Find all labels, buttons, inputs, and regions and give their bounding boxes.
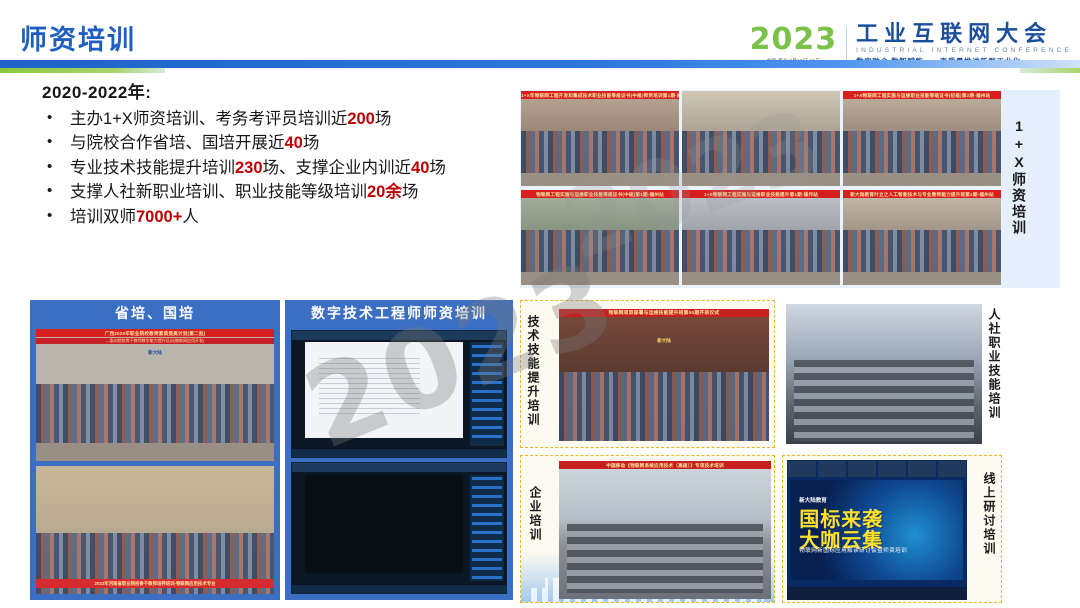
conference-year-block: 2023 中国·苏州 8月12日-15日 (750, 25, 847, 64)
screenshot-text-lines (319, 358, 420, 417)
panel-digital-engineer-title: 数字技术工程师师资培训 (285, 300, 513, 326)
achievement-item: 与院校合作省培、国培开展近40场 (42, 132, 512, 155)
photo-online-seminar: 新大陆教育 国标来袭 大咖云集 物联网新国标应用解读研讨会暨师资培训 (787, 460, 967, 600)
conference-name-cn: 工业互联网大会 (856, 22, 1072, 45)
webinar-footer-bar (787, 587, 967, 600)
bullet-text: 人 (182, 208, 199, 226)
photo-grid-cell: 新大陆教育叶立之人工智能技术与专业教师能力提升班第2期-福州站 (843, 190, 1001, 285)
highlight-number: 40 (411, 159, 429, 177)
photo-skill-upgrade: 物联网项目部署与运维技能提升班第50期开班仪式 新大陆 (559, 309, 769, 441)
webinar-thumb (908, 461, 936, 477)
photo-subbanner-provincial-top: —面向院校骨干教师教学能力提升培训(物联网应用开发) (36, 338, 274, 344)
screenshot-meeting-2 (291, 462, 507, 594)
photo-desks (794, 360, 974, 441)
bullet-text: 场 (375, 110, 392, 128)
photo-floor (521, 173, 679, 186)
panel-online-seminar: 新大陆教育 国标来袭 大咖云集 物联网新国标应用解读研讨会暨师资培训 线上研讨培… (782, 455, 1002, 603)
webinar-participant-thumbnails (787, 460, 967, 478)
achievement-item: 专业技术技能提升培训230场、支撑企业内训近40场 (42, 157, 512, 180)
webinar-title-line1: 国标来袭 (799, 510, 906, 531)
highlight-number: 200 (347, 110, 375, 128)
organization-logo-icon: 新大陆 (148, 350, 162, 356)
bullet-text: 场、支撑企业内训近 (263, 159, 412, 177)
photo-floor (521, 272, 679, 285)
conference-year: 2023 (750, 25, 838, 55)
webinar-thumb (878, 461, 906, 477)
bullet-text: 支撑人社新职业培训、职业技能等级培训 (70, 183, 367, 201)
screenshot-toolbar (292, 331, 506, 340)
photo-enterprise: 中国移动《物联网系统应用技术（高级）》专项技术培训 (559, 461, 771, 599)
webinar-thumb (848, 461, 876, 477)
photo-provincial-bottom: 2022年河南省职业院校骨干教师培养培训-物联网应用技术专业 (36, 466, 274, 594)
header-divider (0, 60, 1080, 74)
bullet-text: 场 (402, 183, 419, 201)
photo-provincial-top: 广西2020年职业院校教师素质提高计划(第二批) —面向院校骨干教师教学能力提升… (36, 329, 274, 461)
screenshot-document (305, 475, 463, 574)
label-hr-vocational-training: 人社职业技能培训 (988, 308, 1000, 438)
highlight-number: 7000+ (136, 208, 182, 226)
bullet-text: 与院校合作省培、国培开展近 (70, 134, 285, 152)
photo-floor (682, 173, 840, 186)
photo-floor (682, 272, 840, 285)
panel-hr-vocational: 人社职业技能培训 (782, 300, 1002, 448)
webinar-slide-body: 新大陆教育 国标来袭 大咖云集 物联网新国标应用解读研讨会暨师资培训 (791, 480, 964, 581)
photo-banner-skill-upgrade: 物联网项目部署与运维技能提升班第50期开班仪式 (559, 309, 769, 317)
photo-banner-provincial-bottom: 2022年河南省职业院校骨干教师培养培训-物联网应用技术专业 (36, 579, 274, 588)
bullet-text: 专业技术技能提升培训 (70, 159, 235, 177)
photo-banner: 物联网工程实施与运维职业技能等级证书(中级)第1期-福州站 (521, 190, 679, 198)
divider-blue-bar (0, 60, 1080, 68)
highlight-number: 230 (235, 159, 263, 177)
photo-grid-cell: 1+X物联网工程实施与运维职业技能等级证书(初级)第2期-福州站 (843, 91, 1001, 186)
photo-banner-enterprise: 中国移动《物联网系统应用技术（高级）》专项技术培训 (559, 461, 771, 469)
photo-grid-cell: 物联网工程实施与运维职业技能等级证书(中级)第1期-福州站 (521, 190, 679, 285)
webinar-ad: 新大陆教育 国标来袭 大咖云集 物联网新国标应用解读研讨会暨师资培训 (787, 460, 967, 600)
photo-lab-rows (567, 524, 762, 593)
presentation-slide: 师资培训 2023 中国·苏州 8月12日-15日 工业互联网大会 INDUST… (0, 0, 1080, 608)
achievement-item: 培训双师7000+人 (42, 206, 512, 229)
screenshot-statusbar (292, 449, 506, 457)
photo-floor (36, 443, 274, 461)
photo-grid-cell (682, 91, 840, 186)
panel-provincial-title: 省培、国培 (30, 300, 280, 326)
achievement-item: 支撑人社新职业培训、职业技能等级培训20余场 (42, 181, 512, 204)
bullet-text: 培训双师 (70, 208, 136, 226)
photo-banner: 新大陆教育叶立之人工智能技术与专业教师能力提升班第2期-福州站 (843, 190, 1001, 198)
divider-green-accent (0, 68, 165, 73)
panel-enterprise-training: 企业培训 中国移动《物联网系统应用技术（高级）》专项技术培训 (520, 455, 775, 603)
content-text-block: 2020-2022年: 主办1+X师资培训、考务考评员培训近200场与院校合作省… (42, 78, 512, 230)
screenshot-document (305, 342, 463, 438)
organization-logo-icon: 新大陆 (657, 338, 671, 344)
photo-hr-vocational (786, 304, 982, 444)
webinar-thumb (938, 461, 966, 477)
achievements-list: 主办1+X师资培训、考务考评员培训近200场与院校合作省培、国培开展近40场专业… (42, 108, 512, 229)
divider-green-accent-right (1020, 68, 1080, 73)
screenshot-toolbar (292, 463, 506, 472)
screenshot-meeting-1 (291, 330, 507, 458)
screenshot-participant-rows (472, 345, 502, 443)
screenshot-statusbar (292, 585, 506, 593)
highlight-number: 40 (285, 134, 303, 152)
photo-banner: 1+X年物联网工程开发和集成技术职业技能等级证书(中级)师资培训第1期-福州站 (521, 91, 679, 99)
panel-skill-upgrade: 技术技能提升培训 物联网项目部署与运维技能提升班第50期开班仪式 新大陆 (520, 300, 775, 448)
webinar-thumb (818, 461, 846, 477)
bullet-text: 场 (303, 134, 320, 152)
photo-grid-cell: 1+X物联网工程实施与运维职业技能提升第1期-操作站 (682, 190, 840, 285)
photo-floor (843, 173, 1001, 186)
highlight-number: 20余 (367, 183, 402, 201)
photo-grid-one-plus-x: 1+X年物联网工程开发和集成技术职业技能等级证书(中级)师资培训第1期-福州站1… (520, 90, 1002, 288)
photo-banner-provincial-top: 广西2020年职业院校教师素质提高计划(第二批) (36, 329, 274, 337)
conference-name-en: INDUSTRIAL INTERNET CONFERENCE (856, 47, 1072, 54)
photo-floor (843, 272, 1001, 285)
panel-provincial-national: 省培、国培 广西2020年职业院校教师素质提高计划(第二批) —面向院校骨干教师… (30, 300, 280, 600)
page-title: 师资培训 (20, 18, 136, 57)
label-skill-upgrade-training: 技术技能提升培训 (527, 315, 539, 433)
webinar-subtitle: 物联网新国标应用解读研讨会暨师资培训 (799, 546, 920, 554)
achievement-item: 主办1+X师资培训、考务考评员培训近200场 (42, 108, 512, 131)
label-online-seminar-training: 线上研讨培训 (983, 472, 995, 590)
logo-divider (846, 26, 847, 64)
photo-grid-cell: 1+X年物联网工程开发和集成技术职业技能等级证书(中级)师资培训第1期-福州站 (521, 91, 679, 186)
photo-banner: 1+X物联网工程实施与运维职业技能提升第1期-操作站 (682, 190, 840, 198)
webinar-logo-left: 新大陆教育 (799, 496, 827, 504)
photo-banner: 1+X物联网工程实施与运维职业技能等级证书(初级)第2期-福州站 (843, 91, 1001, 99)
photo-crowd (559, 372, 769, 441)
label-one-plus-x-training: 1+X师资培训 (1012, 118, 1026, 258)
screenshot-participant-rows (472, 477, 502, 578)
bullet-text: 场 (429, 159, 446, 177)
webinar-thumb (788, 461, 816, 477)
panel-digital-engineer: 数字技术工程师师资培训 (285, 300, 513, 600)
content-heading: 2020-2022年: (42, 78, 512, 103)
bullet-text: 主办1+X师资培训、考务考评员培训近 (70, 110, 347, 128)
